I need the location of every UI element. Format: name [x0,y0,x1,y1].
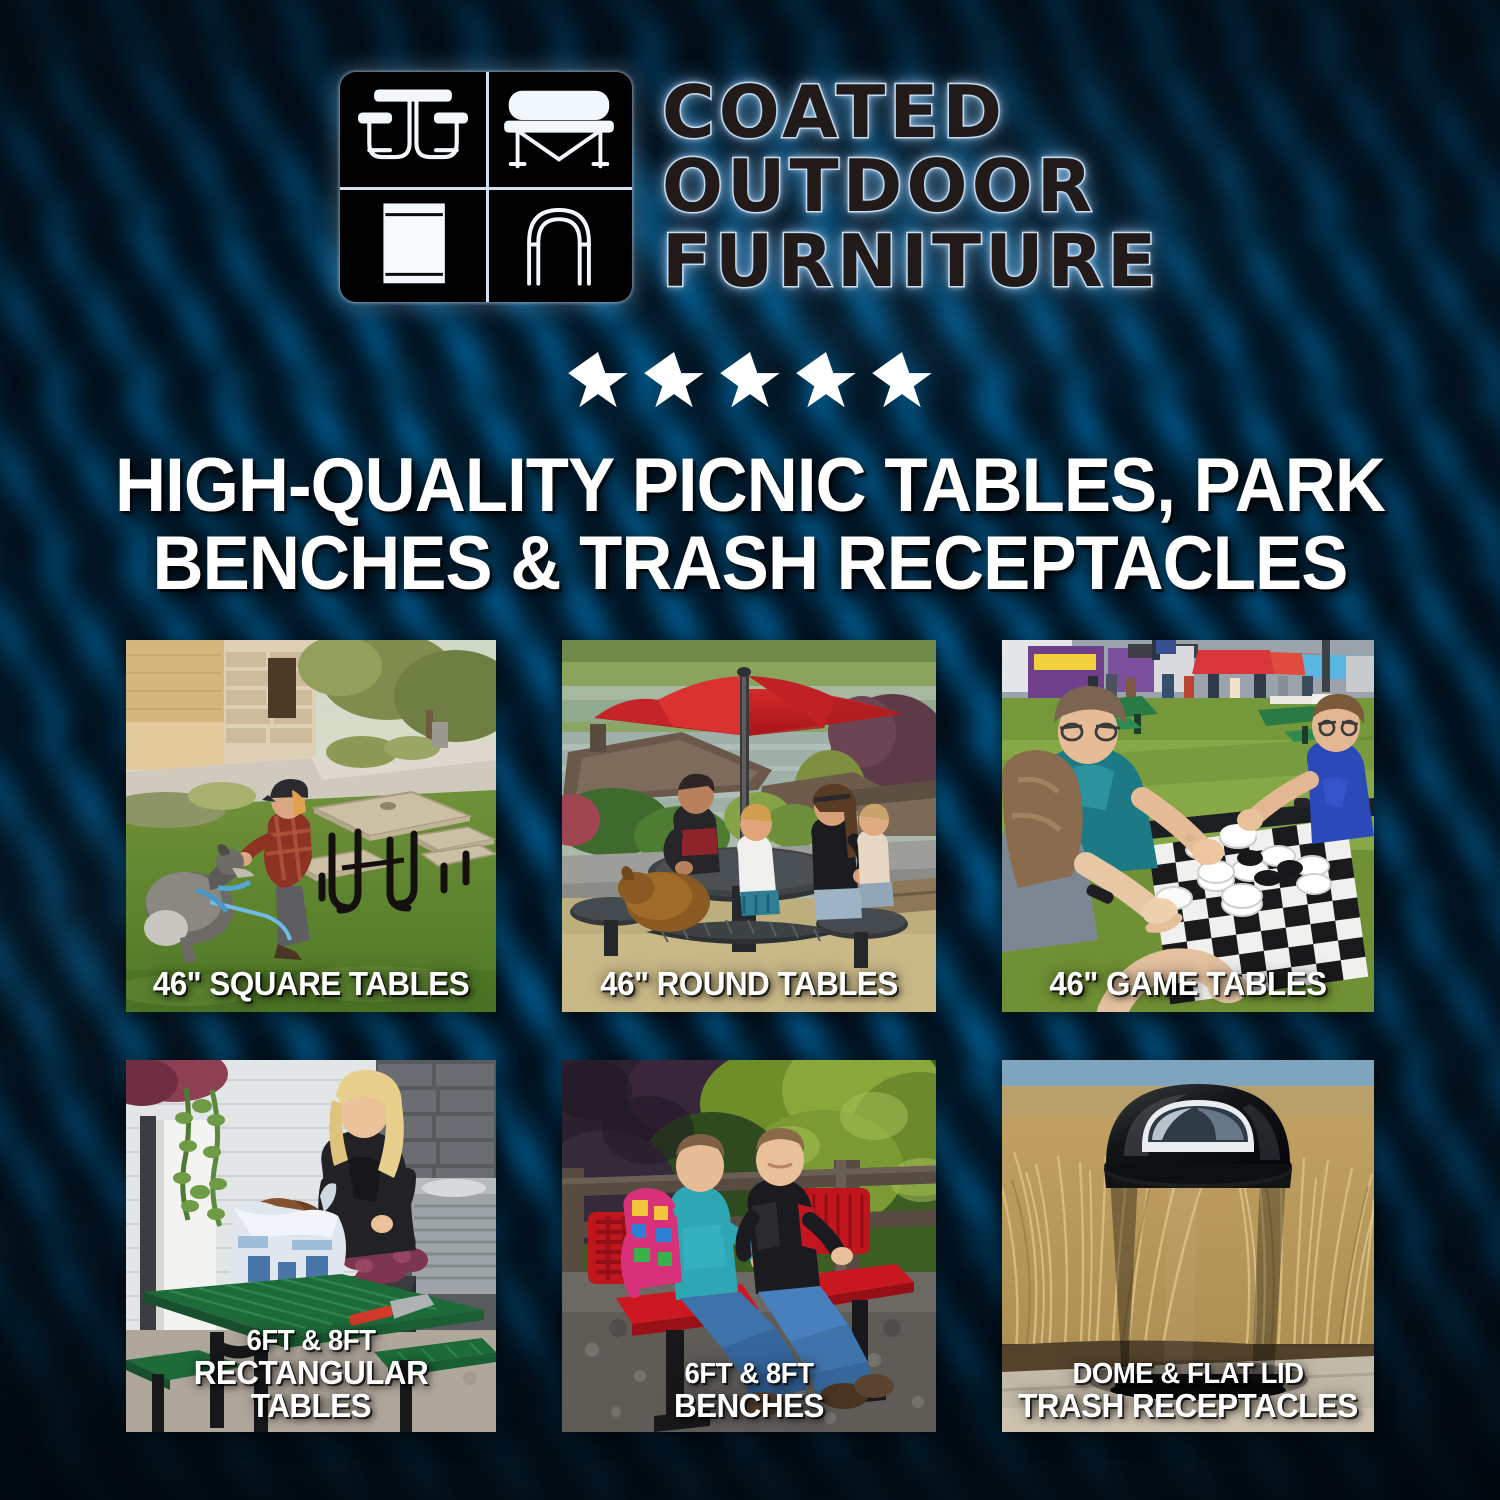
tile-label-square-tables: 46" SQUARE TABLES [126,967,496,1000]
park-bench-icon [486,72,632,187]
brand-line-2: OUTDOOR [662,152,1160,220]
tile-label-trash-receptacles: DOME & FLAT LID TRASH RECEPTACLES [1002,1360,1374,1422]
tile-label-line-1: 46" SQUARE TABLES [135,967,487,1000]
tile-label-benches: 6FT & 8FT BENCHES [562,1360,936,1422]
product-tile-game-tables[interactable]: 46" GAME TABLES [1002,640,1374,1012]
brand-logo: COATED OUTDOOR FURNITURE [0,72,1500,302]
brand-wordmark: COATED OUTDOOR FURNITURE [662,72,1160,295]
product-tile-trash-receptacles[interactable]: DOME & FLAT LID TRASH RECEPTACLES [1002,1060,1374,1432]
star-rating [0,352,1500,412]
tile-label-line-2: RECTANGULAR TABLES [135,1356,487,1422]
page-headline: HIGH-QUALITY PICNIC TABLES, PARK BENCHES… [53,447,1448,602]
star-icon-1 [567,352,629,412]
tile-label-line-1: 46" ROUND TABLES [571,967,926,1000]
headline-line-2: BENCHES & TRASH RECEPTACLES [53,525,1448,603]
trash-receptacle-icon [340,187,486,302]
star-icon-3 [719,352,781,412]
tile-label-rectangular-tables: 6FT & 8FT RECTANGULAR TABLES [126,1327,496,1422]
photo-round-tables [562,640,936,1012]
brand-line-1: COATED [662,78,1160,146]
logo-mark-quadrants [340,72,632,302]
tile-label-game-tables: 46" GAME TABLES [1002,967,1374,1000]
promo-banner: COATED OUTDOOR FURNITURE HIGH-QUALITY PI… [0,0,1500,1500]
brand-line-3: FURNITURE [662,227,1160,295]
star-icon-5 [871,352,933,412]
tile-label-line-1: 46" GAME TABLES [1011,967,1364,1000]
product-tile-square-tables[interactable]: 46" SQUARE TABLES [126,640,496,1012]
star-icon-2 [643,352,705,412]
star-icon-4 [795,352,857,412]
product-tile-rectangular-tables[interactable]: 6FT & 8FT RECTANGULAR TABLES [126,1060,496,1432]
tile-label-line-1: DOME & FLAT LID [1011,1360,1364,1389]
picnic-table-icon [340,72,486,187]
product-grid: 46" SQUARE TABLES [126,640,1374,1432]
bike-rack-icon [486,187,632,302]
tile-label-line-1: 6FT & 8FT [571,1360,926,1389]
tile-label-line-2: TRASH RECEPTACLES [1011,1389,1364,1422]
photo-game-tables [1002,640,1374,1012]
tile-label-line-2: BENCHES [571,1389,926,1422]
tile-label-round-tables: 46" ROUND TABLES [562,967,936,1000]
product-tile-benches[interactable]: 6FT & 8FT BENCHES [562,1060,936,1432]
tile-label-line-1: 6FT & 8FT [135,1327,487,1356]
headline-line-1: HIGH-QUALITY PICNIC TABLES, PARK [53,447,1448,525]
product-tile-round-tables[interactable]: 46" ROUND TABLES [562,640,936,1012]
photo-square-tables [126,640,496,1012]
